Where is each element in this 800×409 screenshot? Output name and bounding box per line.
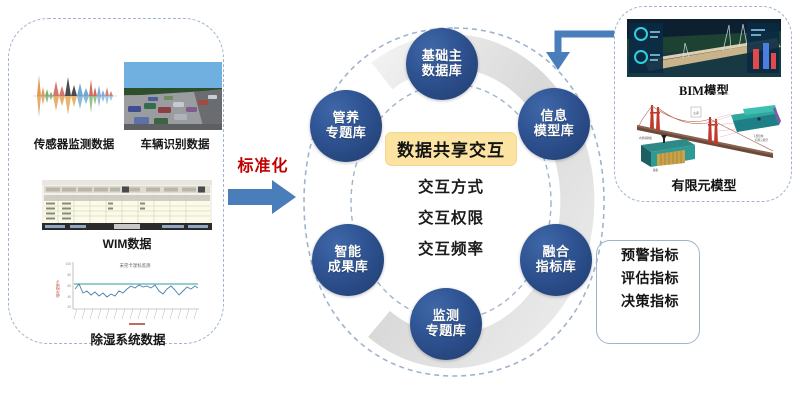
node-label-line1: 管养 [332, 111, 359, 126]
indicator-list: 预警指标 评估指标 决策指标 [600, 248, 700, 317]
data-sharing-badge: 数据共享交互 [385, 132, 517, 166]
waveform-chart-thumbnail [31, 65, 119, 127]
data-source-label-vehicle: 车辆识别数据 [127, 136, 223, 152]
model-panel: BIM模型 [614, 6, 792, 202]
center-line-interaction-mode: 交互方式 [350, 175, 552, 197]
node-label-line2: 专题库 [426, 324, 467, 339]
indicator-assessment: 评估指标 [600, 271, 700, 285]
svg-text:有限元模型: 有限元模型 [755, 138, 768, 142]
svg-text:内部横隔板: 内部横隔板 [639, 136, 652, 140]
wheel-node-monitor-topic-db[interactable]: 监测 专题库 [410, 288, 482, 360]
node-label-line2: 成果库 [328, 260, 369, 275]
data-source-label-dehumidification: 除湿系统数据 [39, 329, 217, 348]
svg-text:下部结构: 下部结构 [753, 134, 764, 138]
diagram-canvas: 传感器监测数据 车辆识别数据 [0, 0, 800, 409]
svg-text:腹板: 腹板 [653, 168, 659, 172]
data-source-label-sensor: 传感器监测数据 [21, 136, 127, 152]
indicator-warning: 预警指标 [600, 248, 700, 262]
svg-text:主梁: 主梁 [693, 110, 699, 115]
data-source-label-wim: WIM数据 [42, 235, 212, 252]
node-label-line1: 基础主 [422, 49, 463, 64]
line-chart-thumbnail: 未完卡湿标监测 100 80 60 40 20 相对湿度% [47, 253, 209, 331]
node-label-line1: 监测 [432, 309, 459, 324]
data-source-panel: 传感器监测数据 车辆识别数据 [8, 18, 224, 344]
center-line-interaction-frequency: 交互频率 [350, 237, 552, 259]
finite-element-model-thumbnail: 内部横隔板 腹板 下部结构 有限元模型 主梁 [623, 95, 785, 173]
node-label-line2: 数据库 [422, 64, 463, 79]
indicator-decision: 决策指标 [600, 294, 700, 308]
wheel-node-base-master-db[interactable]: 基础主 数据库 [406, 28, 478, 100]
svg-text:40: 40 [67, 295, 71, 299]
svg-text:100: 100 [66, 262, 72, 266]
center-line-interaction-permission: 交互权限 [350, 206, 552, 228]
svg-text:20: 20 [67, 305, 71, 309]
wheel-center-content: 数据共享交互 交互方式 交互权限 交互频率 [350, 132, 552, 259]
bim-bridge-render-thumbnail [627, 19, 781, 77]
node-label-line2: 指标库 [536, 260, 577, 275]
spreadsheet-table-thumbnail [42, 180, 212, 230]
svg-text:80: 80 [67, 273, 71, 277]
model-label-fem: 有限元模型 [615, 175, 793, 194]
svg-text:60: 60 [67, 284, 71, 288]
traffic-photo-thumbnail [124, 62, 222, 130]
svg-text:未完卡湿标监测: 未完卡湿标监测 [120, 262, 151, 269]
svg-text:相对湿度%: 相对湿度% [55, 279, 60, 297]
node-label-line1: 信息 [540, 109, 567, 124]
